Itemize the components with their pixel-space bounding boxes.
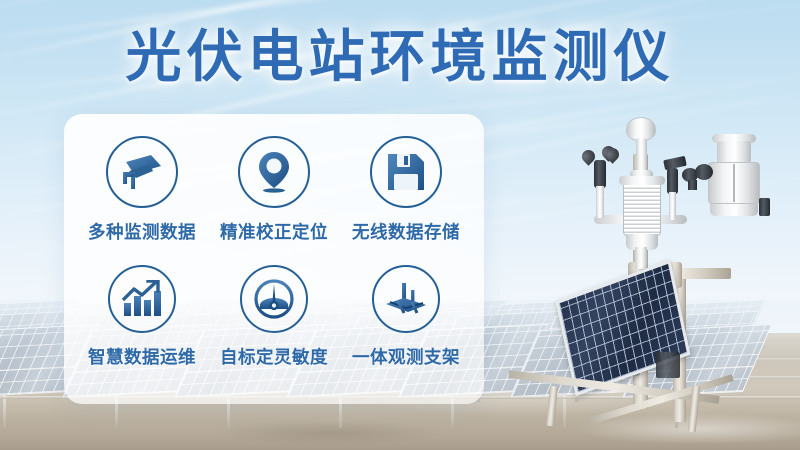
feature-icon-ring: [240, 265, 308, 333]
location-pin-icon: [255, 150, 293, 194]
feature-item-integrated-mount[interactable]: 一体观测支架: [340, 265, 472, 394]
feature-icon-ring: [238, 136, 310, 208]
gauge-meter-icon: [253, 278, 295, 320]
sensor-enclosure-seam: [733, 164, 735, 202]
radiation-shield-top: [619, 176, 665, 185]
optical-sensor-b: [695, 164, 713, 180]
feature-label: 一体观测支架: [352, 344, 460, 369]
wind-vane-hub: [667, 168, 678, 194]
radiation-shield-stem: [635, 247, 647, 269]
feature-item-smart-operations[interactable]: 智慧数据运维: [76, 265, 208, 394]
base-frame-foot-left: [546, 386, 558, 427]
feature-item-self-calibrating-sensitivity[interactable]: 自标定灵敏度: [208, 265, 340, 394]
feature-item-monitoring-data[interactable]: 多种监测数据: [76, 136, 208, 265]
junction-box: [656, 352, 680, 378]
anemometer-shaft: [596, 186, 604, 218]
feature-item-wireless-storage[interactable]: 无线数据存储: [340, 136, 472, 265]
feature-label: 自标定灵敏度: [220, 344, 328, 369]
feature-label: 多种监测数据: [88, 219, 196, 244]
floppy-disk-save-icon: [385, 151, 427, 193]
wind-vane-shaft: [669, 192, 676, 220]
feature-label: 无线数据存储: [352, 219, 460, 244]
feature-grid: 多种监测数据 精准校正定位: [64, 114, 484, 404]
mounting-bracket-icon: [384, 279, 428, 319]
feature-icon-ring: [106, 136, 178, 208]
feature-label: 智慧数据运维: [88, 344, 196, 369]
rain-gauge-body: [717, 141, 751, 164]
feature-label: 精准校正定位: [220, 219, 328, 244]
feature-icon-ring: [108, 265, 176, 333]
feature-icon-ring: [372, 265, 440, 333]
anemometer-hub: [594, 160, 606, 188]
bar-chart-growth-icon: [121, 280, 163, 318]
optical-sensor-mount: [688, 180, 697, 190]
enclosure-side-latch: [759, 198, 770, 216]
panel-support-leg: [3, 394, 6, 428]
weather-station-product-image: [540, 86, 800, 450]
radiation-shield: [623, 180, 661, 236]
page-title: 光伏电站环境监测仪: [0, 12, 800, 93]
cctv-camera-icon: [120, 152, 164, 192]
pyranometer-stem: [636, 138, 647, 174]
feature-card-panel: 多种监测数据 精准校正定位: [64, 114, 484, 404]
feature-item-precise-positioning[interactable]: 精准校正定位: [208, 136, 340, 265]
feature-icon-ring: [370, 136, 442, 208]
